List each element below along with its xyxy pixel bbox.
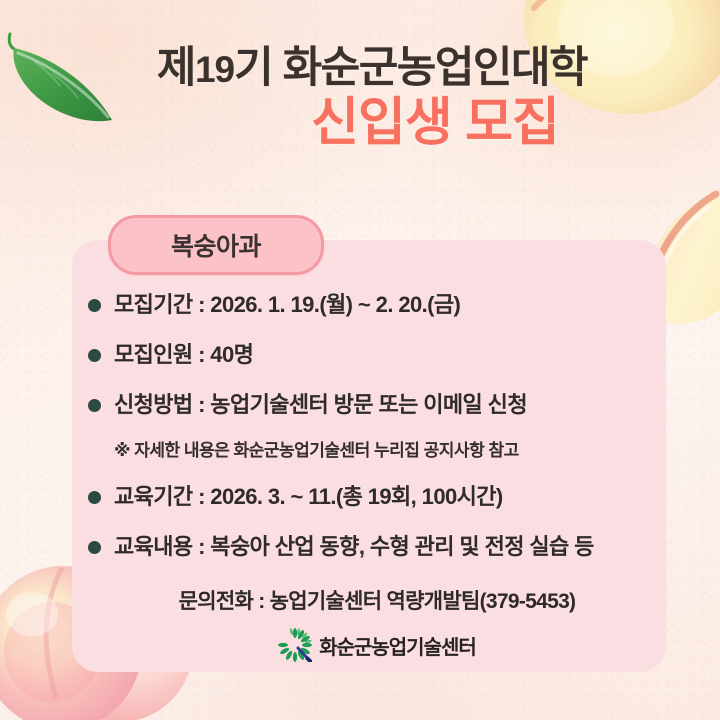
- department-badge: 복숭아과: [108, 215, 324, 275]
- list-item-label: 모집기간 : 2026. 1. 19.(월) ~ 2. 20.(금): [114, 288, 460, 322]
- department-badge-label: 복숭아과: [171, 227, 261, 263]
- list-item-label: 교육기간 : 2026. 3. ~ 11.(총 19회, 100시간): [114, 480, 503, 514]
- poster-canvas: 제19기 화순군농업인대학 신입생 모집 복숭아과 모집기간 : 2026. 1…: [0, 0, 720, 720]
- bullet-icon: [88, 491, 101, 504]
- contact-phone-label: 문의전화 : 농업기술센터 역량개발팀(379-5453): [145, 590, 576, 613]
- title-prefix: 제: [157, 44, 195, 92]
- list-item: 신청방법 : 농업기술센터 방문 또는 이메일 신청: [88, 388, 658, 432]
- details-list: 모집기간 : 2026. 1. 19.(월) ~ 2. 20.(금) 모집인원 …: [88, 288, 658, 580]
- list-item-label: 신청방법 : 농업기술센터 방문 또는 이메일 신청: [114, 388, 527, 422]
- bullet-icon: [88, 299, 101, 312]
- green-starburst-icon: [278, 628, 312, 662]
- list-item: 모집기간 : 2026. 1. 19.(월) ~ 2. 20.(금): [88, 288, 658, 332]
- list-item: 교육내용 : 복숭아 산업 동향, 수형 관리 및 전정 실습 등: [88, 530, 658, 574]
- contact-block: 문의전화 : 농업기술센터 역량개발팀(379-5453): [0, 585, 720, 615]
- bullet-icon: [88, 541, 101, 554]
- title-cohort-number: 19: [195, 49, 234, 90]
- list-item-label: 모집인원 : 40명: [114, 338, 253, 372]
- poster-title-block: 제19기 화순군농업인대학 신입생 모집: [0, 46, 720, 152]
- organization-name: 화순군농업기술센터: [319, 631, 476, 660]
- details-note: ※ 자세한 내용은 화순군농업기술센터 누리집 공지사항 참고: [114, 438, 658, 472]
- poster-title-line2: 신입생 모집: [0, 95, 720, 152]
- bullet-icon: [88, 399, 101, 412]
- details-note-label: ※ 자세한 내용은 화순군농업기술센터 누리집 공지사항 참고: [114, 438, 519, 464]
- bullet-icon: [88, 349, 101, 362]
- list-item: 교육기간 : 2026. 3. ~ 11.(총 19회, 100시간): [88, 480, 658, 524]
- title-suffix: 기 화순군농업인대학: [234, 44, 587, 92]
- list-item-label: 교육내용 : 복숭아 산업 동향, 수형 관리 및 전정 실습 등: [114, 530, 594, 564]
- poster-title-line1: 제19기 화순군농업인대학: [0, 46, 720, 91]
- organization-logo: 화순군농업기술센터: [0, 628, 720, 662]
- list-item: 모집인원 : 40명: [88, 338, 658, 382]
